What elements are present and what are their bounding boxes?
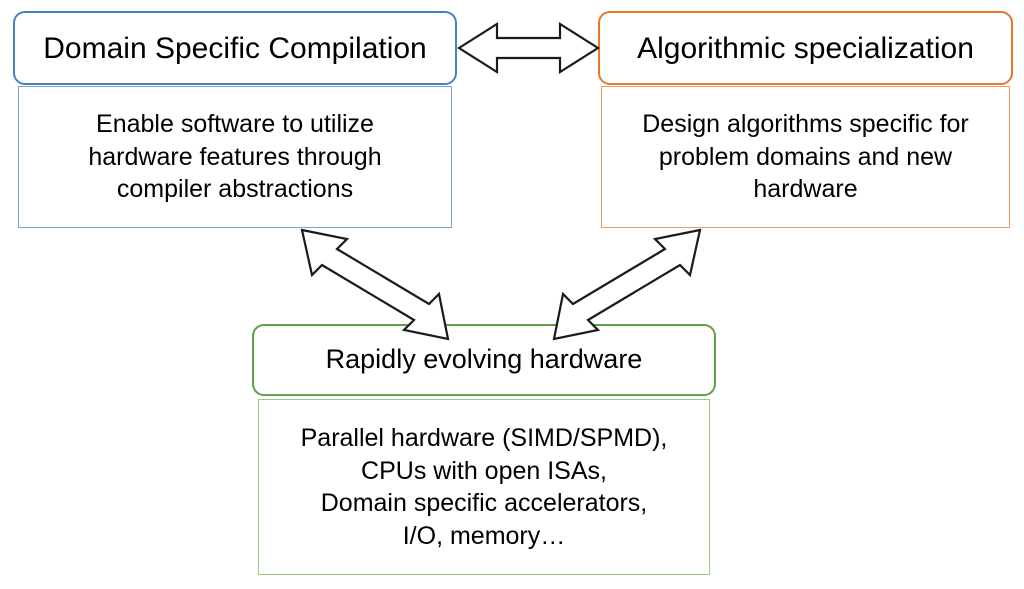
node-rapidly-evolving-hardware-description: Parallel hardware (SIMD/SPMD), CPUs with… bbox=[259, 422, 709, 552]
node-algorithmic-specialization-header[interactable]: Algorithmic specialization bbox=[598, 11, 1013, 85]
node-domain-specific-compilation-title: Domain Specific Compilation bbox=[43, 32, 427, 65]
node-rapidly-evolving-hardware-body: Parallel hardware (SIMD/SPMD), CPUs with… bbox=[258, 399, 710, 575]
node-rapidly-evolving-hardware-title: Rapidly evolving hardware bbox=[326, 345, 643, 375]
node-algorithmic-specialization-body: Design algorithms specific for problem d… bbox=[601, 86, 1010, 228]
node-algorithmic-specialization-description: Design algorithms specific for problem d… bbox=[602, 108, 1009, 206]
connector-compilation-algorithmic-arrow-icon bbox=[459, 24, 598, 72]
node-algorithmic-specialization-title: Algorithmic specialization bbox=[637, 32, 974, 65]
connector-compilation-hardware-arrow-icon bbox=[302, 230, 448, 339]
diagram-canvas: Domain Specific Compilation Enable softw… bbox=[0, 0, 1024, 589]
node-rapidly-evolving-hardware-header[interactable]: Rapidly evolving hardware bbox=[252, 324, 716, 396]
node-domain-specific-compilation-description: Enable software to utilize hardware feat… bbox=[19, 108, 451, 206]
connector-algorithmic-hardware-arrow-icon bbox=[554, 230, 700, 339]
node-domain-specific-compilation-header[interactable]: Domain Specific Compilation bbox=[13, 11, 457, 85]
node-domain-specific-compilation-body: Enable software to utilize hardware feat… bbox=[18, 86, 452, 228]
